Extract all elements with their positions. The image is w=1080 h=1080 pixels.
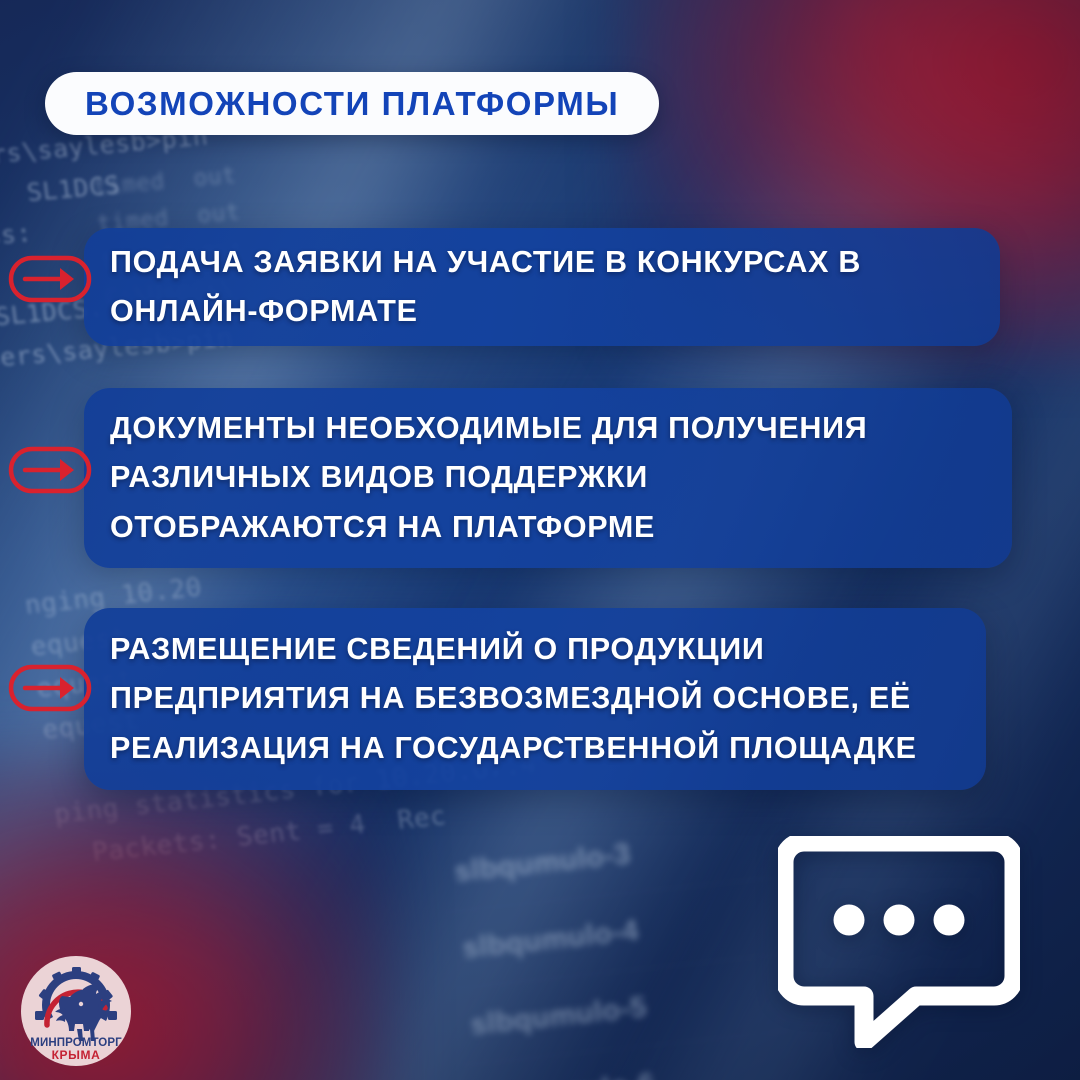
svg-text:КРЫМА: КРЫМА bbox=[52, 1048, 101, 1062]
poster-canvas: \Users\saylesb>pin ver: SL1DCS dress: * … bbox=[0, 0, 1080, 1080]
feature-card-3-line-2: ПРЕДПРИЯТИЯ НА БЕЗВОЗМЕЗДНОЙ ОСНОВЕ, ЕЁ bbox=[84, 674, 986, 723]
ministry-emblem-icon: МИНПРОМТОРГ КРЫМА bbox=[20, 955, 132, 1067]
feature-card-1-line-2: ОНЛАЙН-ФОРМАТЕ bbox=[84, 287, 1000, 336]
speech-bubble-icon bbox=[778, 836, 1020, 1048]
feature-card-2-line-1: ДОКУМЕНТЫ НЕОБХОДИМЫЕ ДЛЯ ПОЛУЧЕНИЯ bbox=[84, 404, 1012, 453]
feature-card-2-line-3: ОТОБРАЖАЮТСЯ НА ПЛАТФОРМЕ bbox=[84, 503, 1012, 552]
page-title: ВОЗМОЖНОСТИ ПЛАТФОРМЫ bbox=[85, 85, 619, 123]
feature-card-3: РАЗМЕЩЕНИЕ СВЕДЕНИЙ О ПРОДУКЦИИ ПРЕДПРИЯ… bbox=[84, 608, 986, 790]
arrow-right-icon bbox=[8, 664, 92, 712]
feature-card-1-line-1: ПОДАЧА ЗАЯВКИ НА УЧАСТИЕ В КОНКУРСАХ В bbox=[84, 238, 1000, 287]
feature-card-1: ПОДАЧА ЗАЯВКИ НА УЧАСТИЕ В КОНКУРСАХ В О… bbox=[84, 228, 1000, 346]
arrow-right-icon bbox=[8, 446, 92, 494]
feature-card-3-line-1: РАЗМЕЩЕНИЕ СВЕДЕНИЙ О ПРОДУКЦИИ bbox=[84, 625, 986, 674]
arrow-right-icon bbox=[8, 255, 92, 303]
page-title-pill: ВОЗМОЖНОСТИ ПЛАТФОРМЫ bbox=[45, 72, 659, 135]
feature-card-2: ДОКУМЕНТЫ НЕОБХОДИМЫЕ ДЛЯ ПОЛУЧЕНИЯ РАЗЛ… bbox=[84, 388, 1012, 568]
feature-card-2-line-2: РАЗЛИЧНЫХ ВИДОВ ПОДДЕРЖКИ bbox=[84, 453, 1012, 502]
feature-card-3-line-3: РЕАЛИЗАЦИЯ НА ГОСУДАРСТВЕННОЙ ПЛОЩАДКЕ bbox=[84, 724, 986, 773]
